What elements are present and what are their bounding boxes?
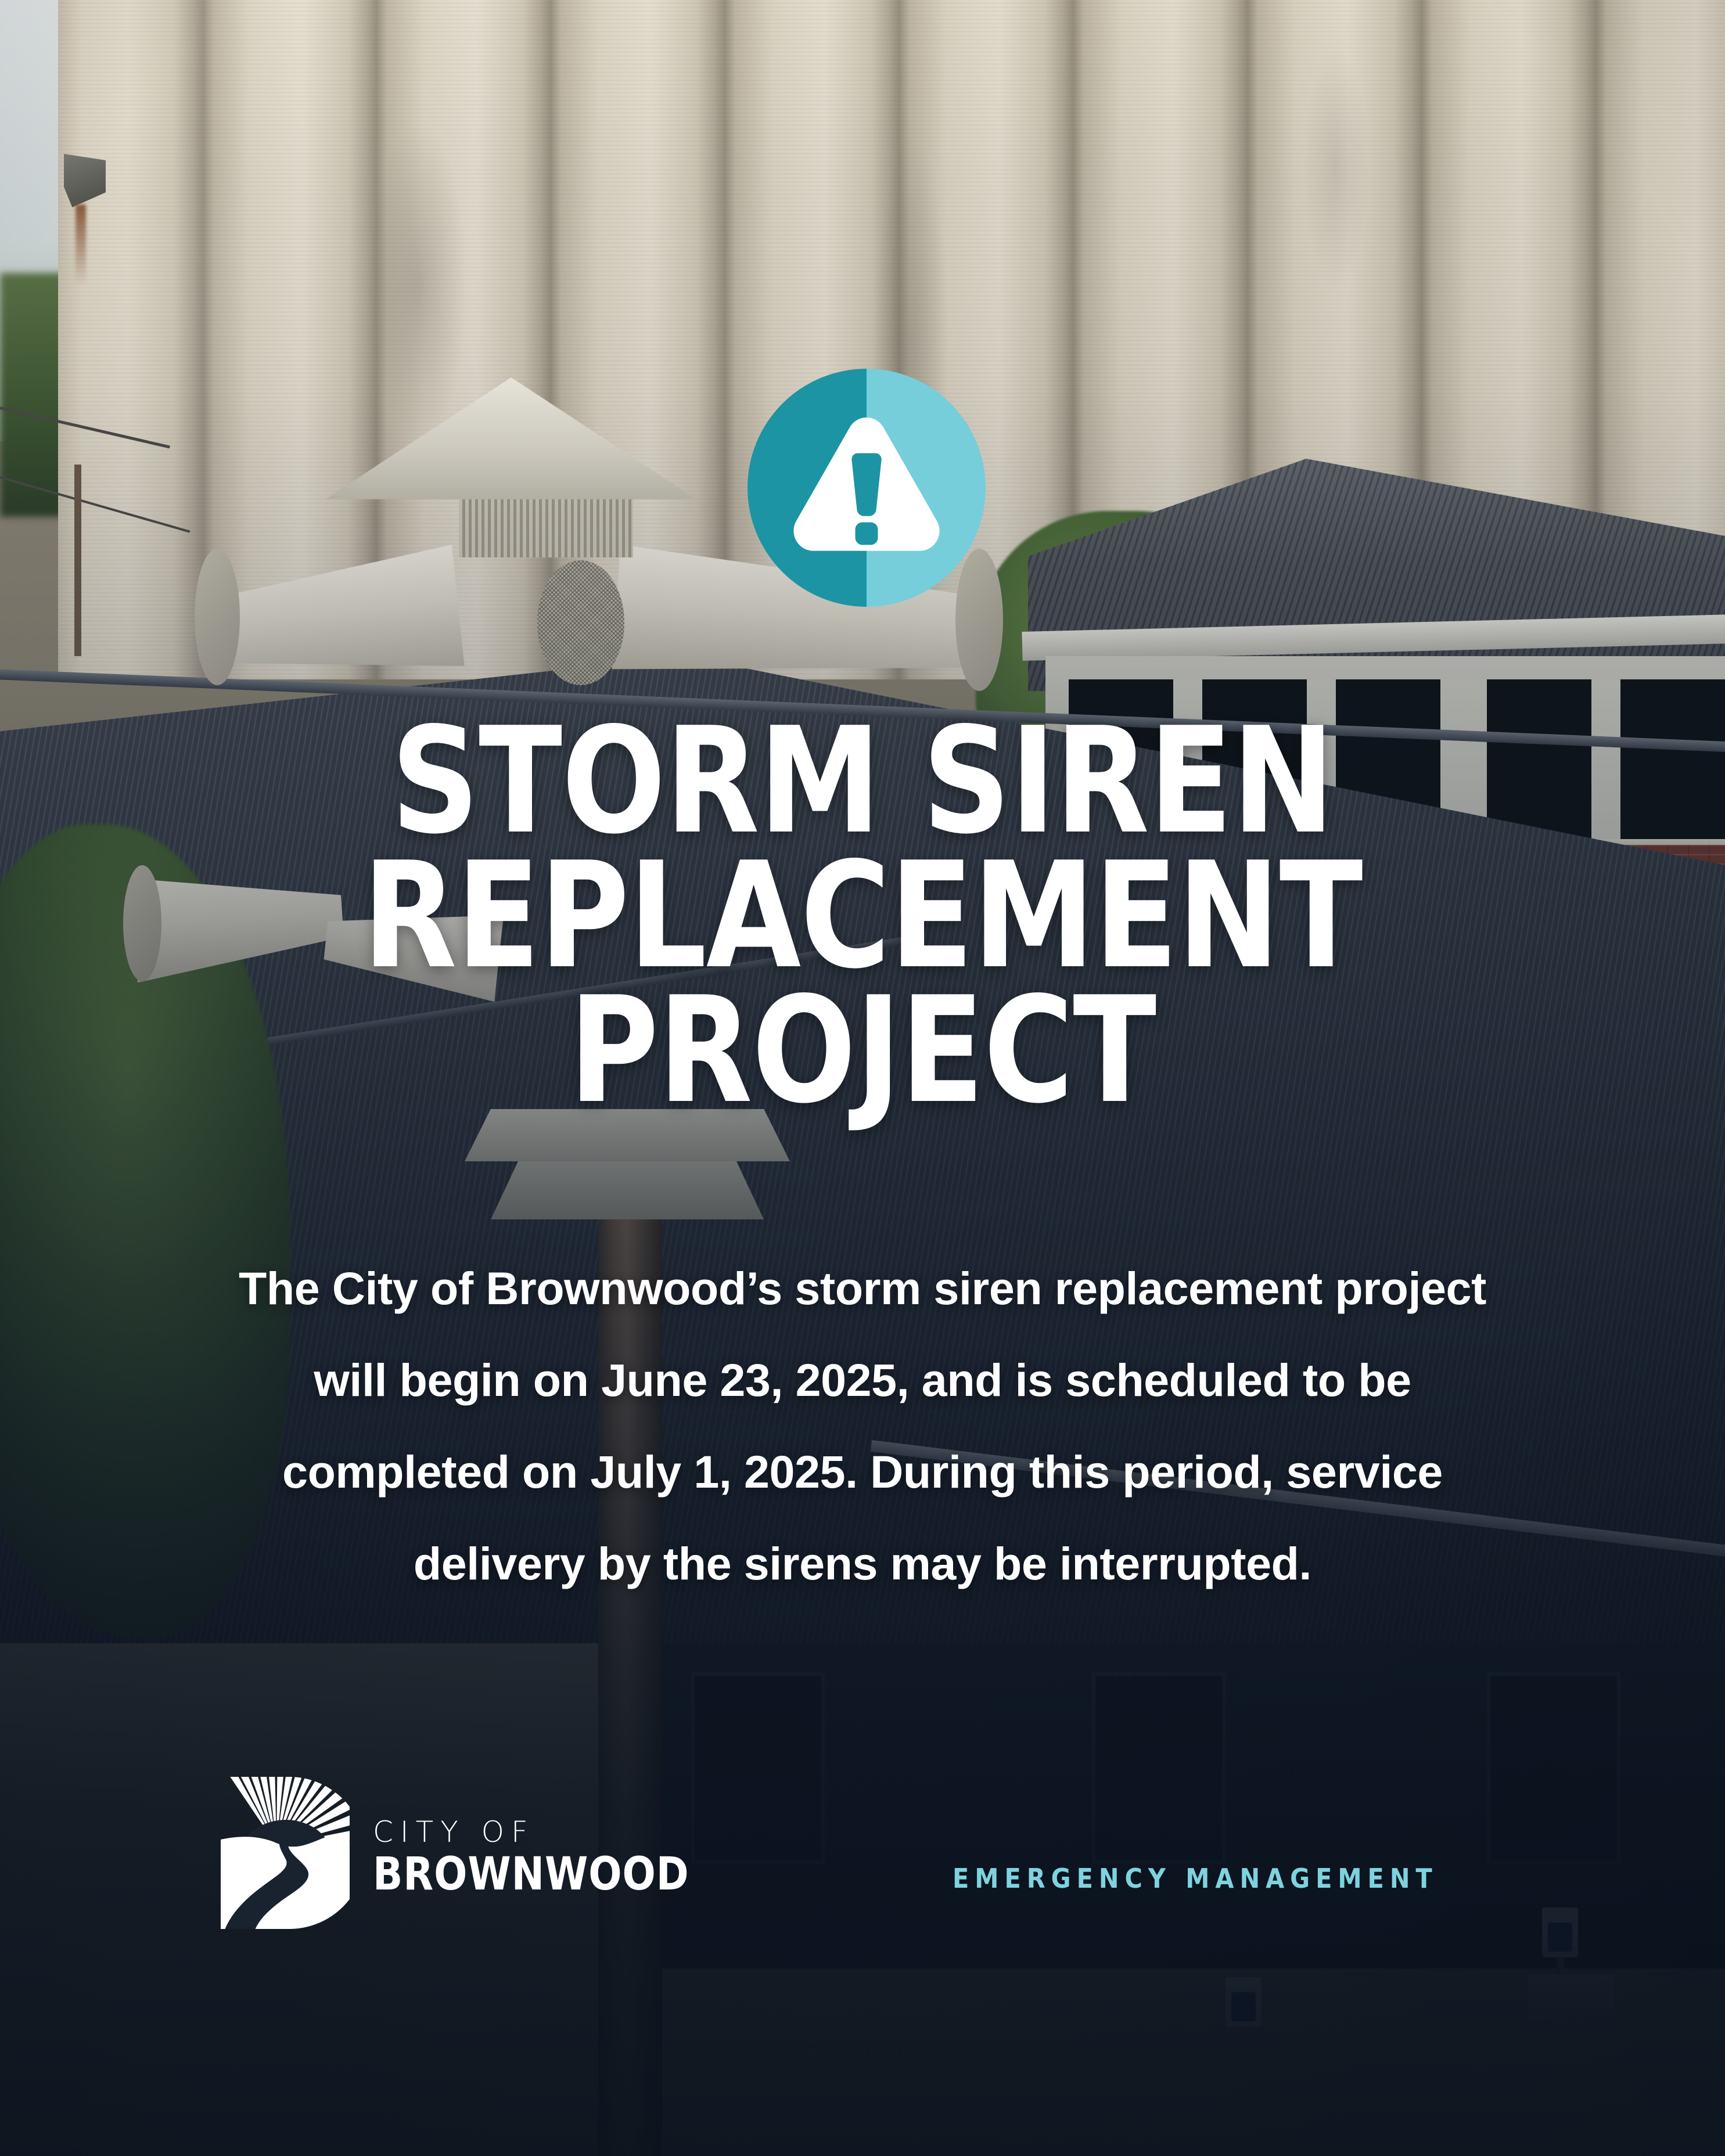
body-paragraph: The City of Brownwood’s storm siren repl… — [221, 1243, 1504, 1610]
logo-wordmark: CITY OF BROWNWOOD — [373, 1808, 702, 1898]
warning-triangle-icon — [747, 369, 986, 607]
headline-line-1: STORM SIREN — [60, 714, 1665, 849]
city-of-brownwood-logo: CITY OF BROWNWOOD — [221, 1777, 702, 1929]
headline-line-2: REPLACEMENT — [60, 849, 1665, 984]
poster-canvas: STORM SIREN REPLACEMENT PROJECT The City… — [0, 0, 1725, 2156]
poster-content: STORM SIREN REPLACEMENT PROJECT The City… — [0, 0, 1725, 2156]
brownwood-sunrise-river-mark — [221, 1777, 350, 1929]
logo-line-city-of: CITY OF — [373, 1817, 702, 1848]
footer: CITY OF BROWNWOOD EMERGENCY MANAGEMENT — [0, 1765, 1725, 1951]
logo-line-brownwood: BROWNWOOD — [373, 1852, 689, 1898]
page-title: STORM SIREN REPLACEMENT PROJECT — [60, 714, 1665, 1118]
headline-line-3: PROJECT — [60, 984, 1665, 1118]
department-label: EMERGENCY MANAGEMENT — [953, 1863, 1438, 1894]
